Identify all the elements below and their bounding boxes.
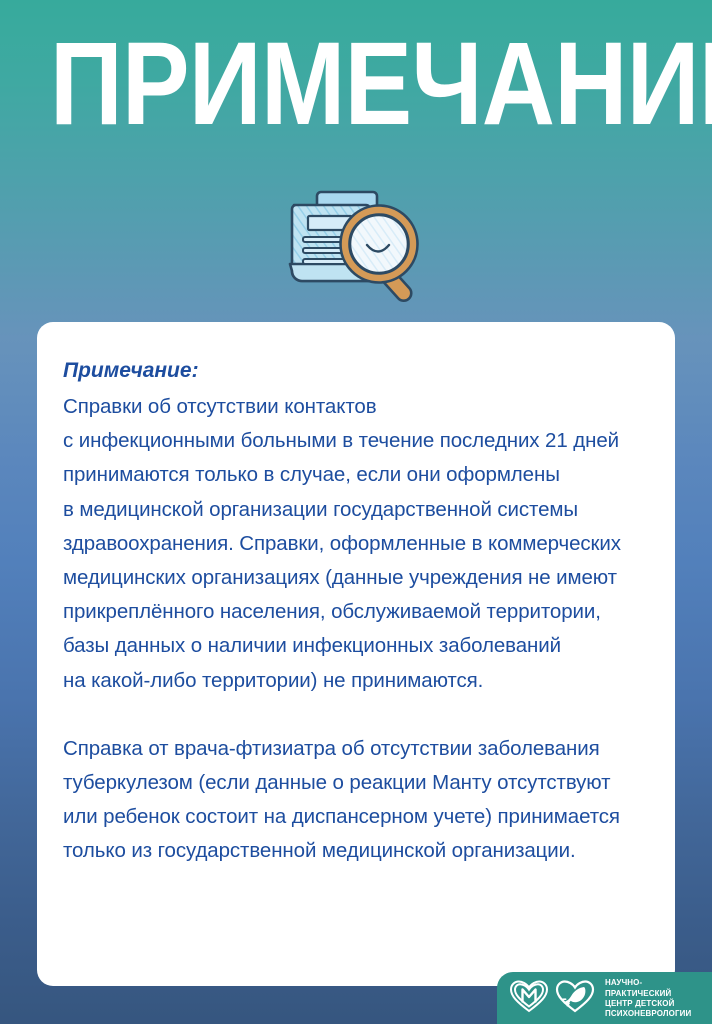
- note-card: Примечание: Справки об отсутствии контак…: [37, 322, 675, 986]
- organization-logo: Научно-практический Центр детской психон…: [497, 972, 712, 1024]
- poster-title-container: ПРИМЕЧАНИЕ: [0, 28, 712, 140]
- illustration-container: [0, 178, 712, 313]
- heart-with-child-icon: [554, 978, 596, 1019]
- note-paragraph-1: Справки об отсутствии контактов с инфекц…: [63, 390, 649, 698]
- poster-root: ПРИМЕЧАНИЕ: [0, 0, 712, 1024]
- note-paragraph-2: Справка от врача-фтизиатра об отсутствии…: [63, 732, 649, 869]
- organization-name: Научно-практический Центр детской психон…: [605, 977, 707, 1019]
- page-title: ПРИМЕЧАНИЕ: [50, 28, 662, 140]
- documents-with-magnifier-icon: [281, 183, 431, 308]
- heart-with-letter-m-icon: [508, 978, 550, 1019]
- note-label: Примечание:: [63, 354, 649, 388]
